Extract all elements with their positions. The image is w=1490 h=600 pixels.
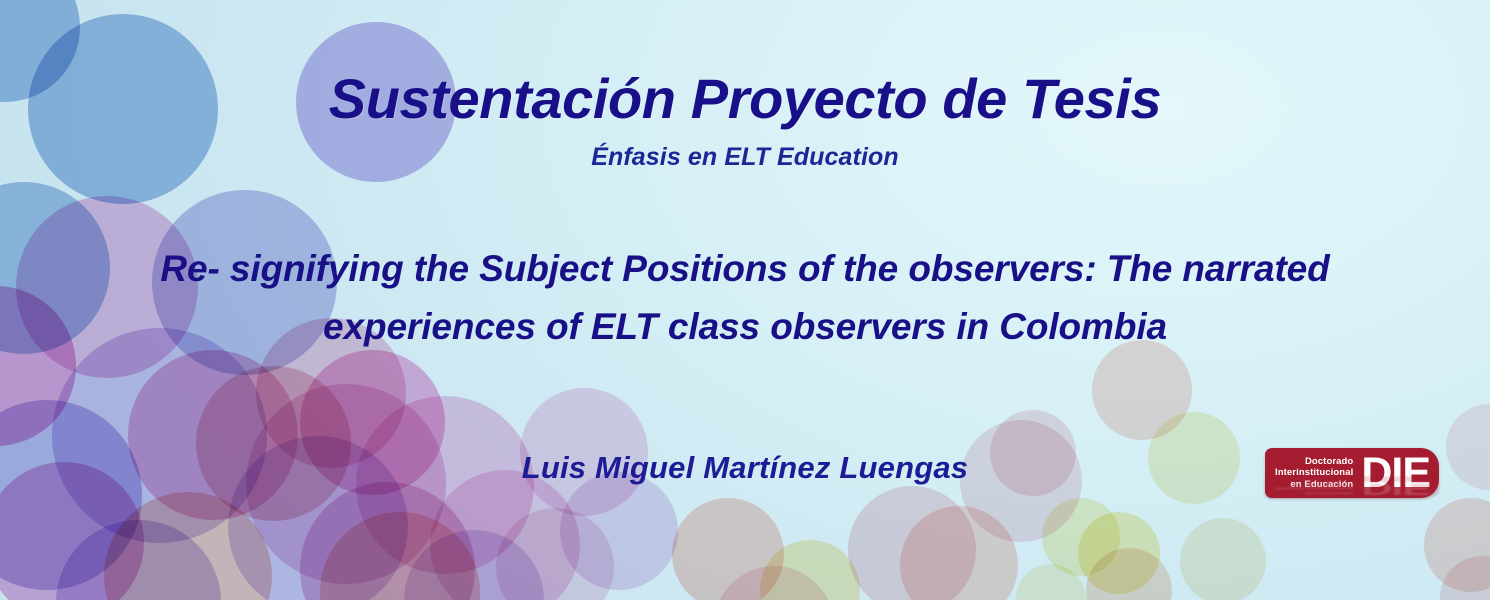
bubble-lavender-center <box>560 472 678 590</box>
bubble-pink-lower-e <box>430 470 580 600</box>
thesis-title: Re- signifying the Subject Positions of … <box>60 240 1430 356</box>
die-logo-line-2: Interinstitucional <box>1275 467 1353 479</box>
bubble-yellow-right-c <box>1078 512 1160 594</box>
bubble-violet-cluster-g <box>56 520 221 600</box>
page-title: Sustentación Proyecto de Tesis <box>0 66 1490 131</box>
bubble-pink-farright <box>1440 556 1490 600</box>
bubble-salmon-mid-d <box>320 512 480 600</box>
die-logo-wordmark: Doctorado Interinstitucional en Educació… <box>1265 448 1357 498</box>
emphasis-subtitle: Énfasis en ELT Education <box>0 143 1490 172</box>
bubble-salmon-right-f <box>1086 548 1172 600</box>
presentation-title-slide: Sustentación Proyecto de Tesis Énfasis e… <box>0 0 1490 600</box>
bubble-yellow-center <box>760 540 860 600</box>
bubble-rose-center <box>496 508 614 600</box>
bubble-rose-cluster-b <box>196 366 351 521</box>
bubble-khaki-right-g <box>1180 518 1266 600</box>
bubble-rose-centerlow <box>714 566 834 600</box>
bubble-lavender-lower-f <box>404 530 544 600</box>
bubble-yellow-right-b <box>1042 498 1120 576</box>
bubble-salmon-cluster-d <box>104 492 272 600</box>
die-logo-line-1: Doctorado <box>1305 456 1353 468</box>
bubble-rose-farright <box>1424 498 1490 592</box>
bubble-yellow-right-h <box>1016 564 1086 600</box>
bubble-violet-lowleft <box>0 400 142 590</box>
bubble-rose-right-a <box>848 486 976 600</box>
bubble-salmon-center <box>672 498 784 600</box>
die-logo-acronym: DIE <box>1357 448 1439 498</box>
bubble-magenta-cluster-f <box>300 482 475 600</box>
bubble-salmon-right-b <box>900 506 1018 600</box>
bubble-pink-cluster-a <box>128 350 298 520</box>
die-logo: Doctorado Interinstitucional en Educació… <box>1265 448 1439 498</box>
bubble-lavender-big-left <box>52 328 267 543</box>
die-logo-line-3: en Educación <box>1290 479 1353 491</box>
